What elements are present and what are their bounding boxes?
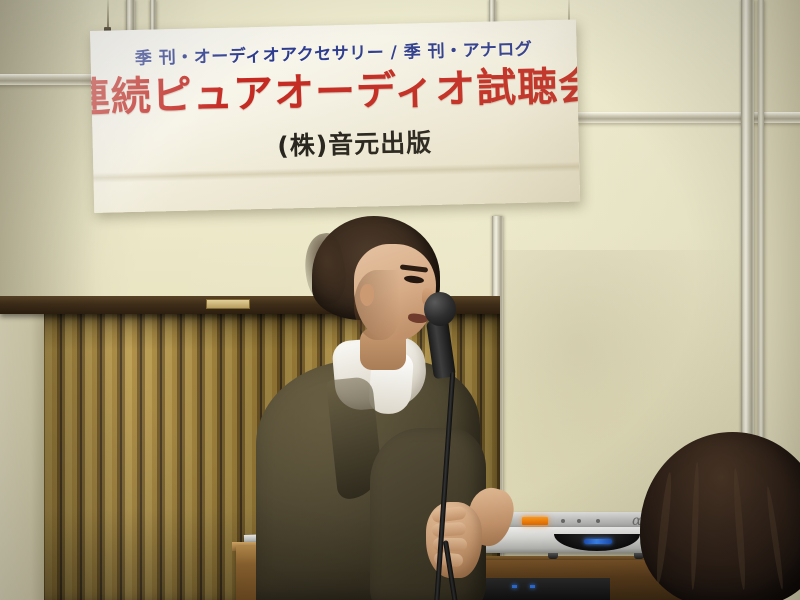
diffuser-left-wall xyxy=(0,296,44,600)
banner-content: 季 刊・オーディオアクセサリー / 季 刊・アナログ 連続ピュアオーディオ試聴会… xyxy=(90,20,580,213)
presenter-ear xyxy=(360,284,374,306)
presenter xyxy=(250,210,550,600)
presenter-face-shadow xyxy=(354,270,400,340)
banner-title: 連続ピュアオーディオ試聴会 xyxy=(90,65,580,121)
microphone-icon xyxy=(424,292,456,326)
event-banner: 季 刊・オーディオアクセサリー / 季 刊・アナログ 連続ピュアオーディオ試聴会… xyxy=(90,20,580,213)
banner-publisher: (株)音元出版 xyxy=(277,123,433,163)
panel-button-3[interactable] xyxy=(596,519,600,523)
wall-rail-horizontal-left xyxy=(0,74,100,85)
blue-indicator-light xyxy=(584,539,612,544)
diffuser-plaque xyxy=(206,299,250,309)
panel-button-1[interactable] xyxy=(561,519,565,523)
photo-scene: α xyxy=(0,0,800,600)
banner-subtitle: 季 刊・オーディオアクセサリー / 季 刊・アナログ xyxy=(135,35,533,69)
banner-hanging-wire-left xyxy=(107,0,109,29)
presenter-finger-2 xyxy=(432,522,467,537)
panel-button-2[interactable] xyxy=(577,519,581,523)
